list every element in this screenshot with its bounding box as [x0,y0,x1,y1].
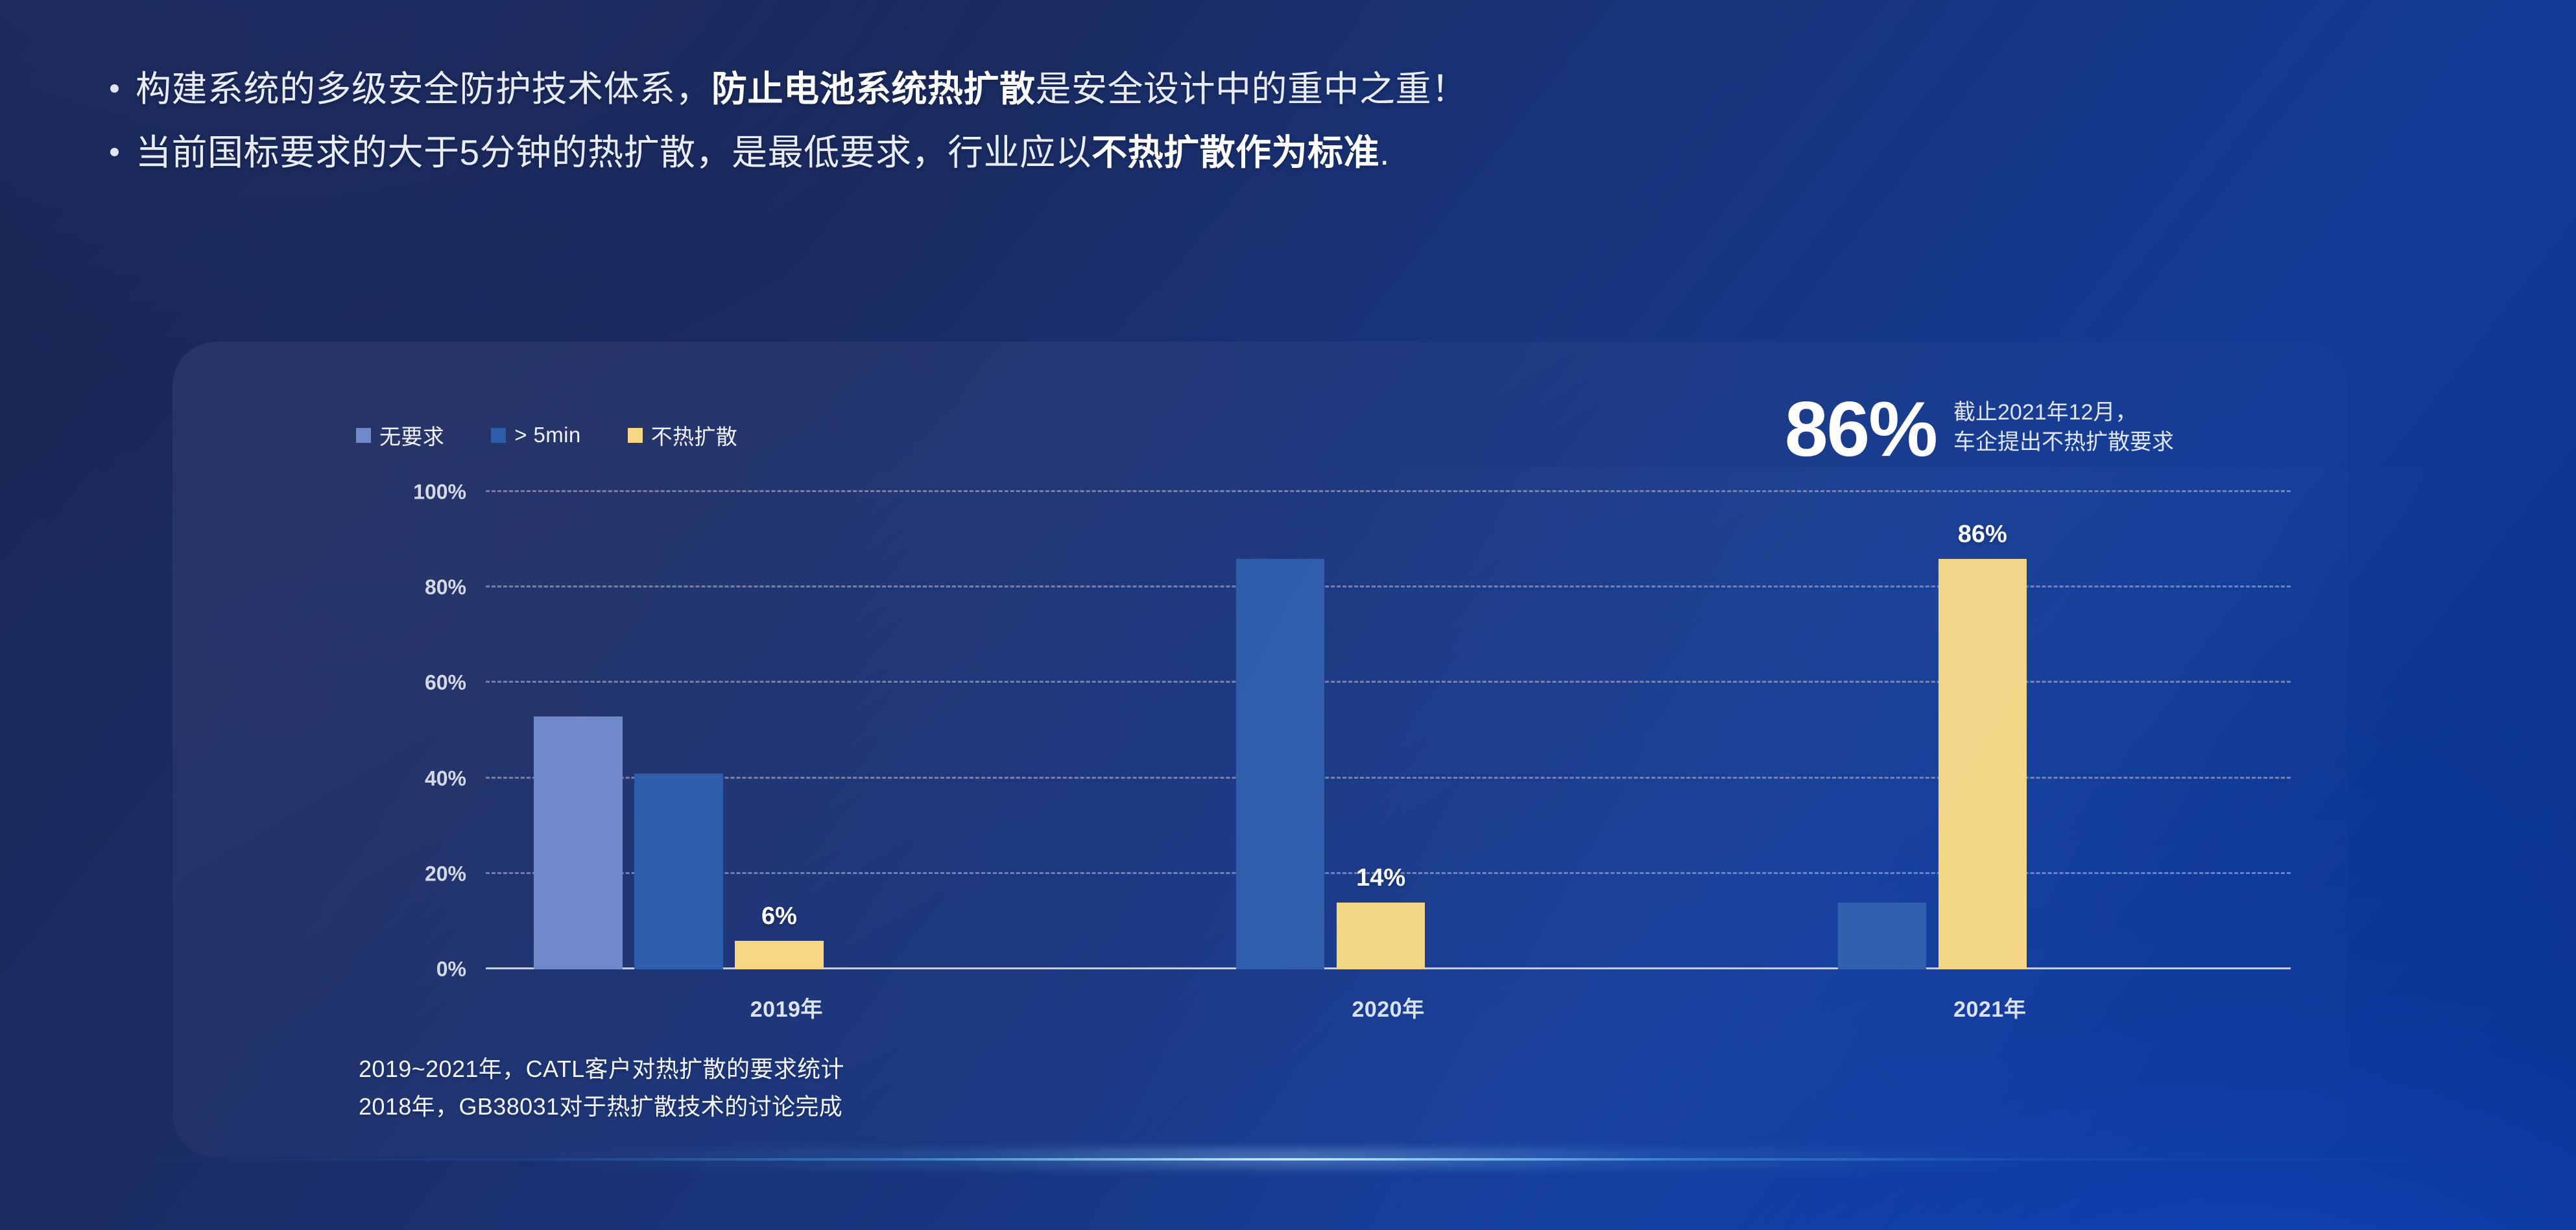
legend-item-no-propagation[interactable]: 不热扩散 [628,420,738,451]
footnote-line-1: 2019~2021年，CATL客户对热扩散的要求统计 [359,1050,844,1088]
chart-plot: 0%20%40%60%80%100% 6%2019年14%2020年86%202… [356,492,2291,969]
legend-swatch-icon [356,428,371,443]
footnote-line-2: 2018年，GB38031对于热扩散技术的讨论完成 [359,1088,844,1126]
chart-bar[interactable]: 86% [1938,559,2027,969]
chart-bar-group: 86%2021年 [1689,492,2291,969]
chart-card: 无要求 > 5min 不热扩散 86% 截止2021年12月， 车企提出不热扩散… [173,342,2348,1157]
chart-bar-value-label: 6% [761,903,797,930]
chart-bars: 6% [534,492,1039,969]
legend-item-no-requirement[interactable]: 无要求 [356,420,444,451]
bottom-glow-line [0,1158,2576,1161]
chart-bar-slot: 6% [735,492,823,969]
chart-bar-slot [1737,492,1826,969]
chart-bar[interactable] [534,716,622,969]
legend-label: 不热扩散 [651,420,738,451]
chart-bar-value-label: 86% [1958,521,2007,549]
chart-bar[interactable] [1838,903,1926,969]
chart-bar-slot [1236,492,1324,969]
chart-bars: 14% [1136,492,1641,969]
chart-bar-slot [1838,492,1926,969]
legend-label: 无要求 [379,420,444,451]
chart-bar-group: 6%2019年 [486,492,1088,969]
y-axis-tick-label: 100% [413,480,466,504]
legend-swatch-icon [628,428,643,443]
y-axis-tick-label: 80% [425,576,466,600]
chart-bar-slot: 14% [1337,492,1425,969]
chart-bar-value-label: 14% [1356,864,1405,892]
callout-description: 截止2021年12月， 车企提出不热扩散要求 [1953,398,2174,465]
chart-bar-slot [1136,492,1224,969]
highlight-callout: 86% 截止2021年12月， 车企提出不热扩散要求 [1785,394,2174,465]
chart-bar[interactable]: 6% [735,941,823,969]
bullet-dot-icon [110,148,119,156]
bullet-2-bold: 不热扩散作为标准 [1091,132,1379,172]
bullet-text: 构建系统的多级安全防护技术体系，防止电池系统热扩散是安全设计中的重中之重！ [136,65,1468,114]
y-axis-tick-label: 60% [425,671,466,695]
legend-swatch-icon [491,428,506,443]
bullet-1-bold: 防止电池系统热扩散 [711,69,1036,109]
legend-item-gt5min[interactable]: > 5min [491,423,580,447]
chart-bar-groups: 6%2019年14%2020年86%2021年 [486,492,2291,969]
bullet-item: 构建系统的多级安全防护技术体系，防止电池系统热扩散是安全设计中的重中之重！ [110,65,2315,114]
bullet-1-pre: 构建系统的多级安全防护技术体系， [136,69,711,109]
bullet-1-post: 是安全设计中的重中之重！ [1036,69,1468,109]
y-axis-tick-label: 40% [425,766,466,790]
callout-line-1: 截止2021年12月， [1953,398,2174,428]
callout-line-2: 车企提出不热扩散要求 [1953,428,2174,458]
chart-bar[interactable] [634,774,722,969]
legend-label: > 5min [514,423,580,447]
chart-footnotes: 2019~2021年，CATL客户对热扩散的要求统计 2018年，GB38031… [359,1050,844,1126]
x-axis-category-label: 2019年 [486,991,1088,1023]
bullet-text: 当前国标要求的大于5分钟的热扩散，是最低要求，行业应以不热扩散作为标准. [136,128,1390,178]
chart-bar-group: 14%2020年 [1088,492,1689,969]
x-axis-category-label: 2021年 [1689,991,2291,1023]
x-axis-category-label: 2020年 [1088,991,1689,1023]
chart-plot-area: 0%20%40%60%80%100% 6%2019年14%2020年86%202… [486,492,2291,969]
callout-percentage: 86% [1785,394,1937,465]
chart-legend: 无要求 > 5min 不热扩散 [356,420,737,451]
bullet-2-pre: 当前国标要求的大于5分钟的热扩散，是最低要求，行业应以 [136,132,1091,172]
bullet-item: 当前国标要求的大于5分钟的热扩散，是最低要求，行业应以不热扩散作为标准. [110,128,2315,178]
y-axis-tick-label: 0% [436,958,466,982]
chart-bar[interactable] [1236,559,1324,969]
bullet-list: 构建系统的多级安全防护技术体系，防止电池系统热扩散是安全设计中的重中之重！ 当前… [110,65,2315,192]
bullet-dot-icon [110,84,119,93]
chart-bar[interactable]: 14% [1337,903,1425,969]
y-axis-tick-label: 20% [425,862,466,886]
slide-root: 构建系统的多级安全防护技术体系，防止电池系统热扩散是安全设计中的重中之重！ 当前… [0,0,2576,1230]
bullet-2-post: . [1379,132,1390,172]
chart-bar-slot [534,492,622,969]
chart-bar-slot [634,492,722,969]
chart-bar-slot: 86% [1938,492,2027,969]
chart-bars: 86% [1737,492,2243,969]
